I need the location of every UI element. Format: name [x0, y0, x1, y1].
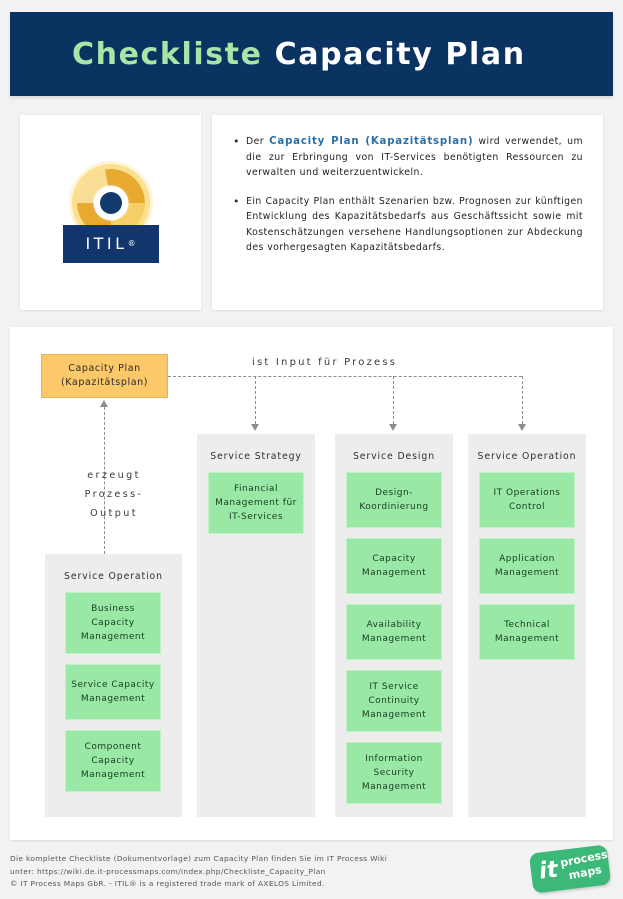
- page-title: Checkliste Capacity Plan: [72, 37, 526, 72]
- process-box[interactable]: Component Capacity Management: [65, 730, 161, 792]
- process-box[interactable]: Technical Management: [479, 604, 575, 660]
- title-white-part: Capacity Plan: [275, 37, 526, 72]
- process-box[interactable]: Financial Management für IT-Services: [208, 472, 304, 534]
- consumer-column-service-design: Service Design Design-Koordinierung Capa…: [335, 434, 453, 817]
- process-box[interactable]: Capacity Management: [346, 538, 442, 594]
- output-arrow-icon: [100, 400, 108, 407]
- output-label-line3: Output: [66, 504, 162, 523]
- itil-logo-panel: ITIL®: [20, 115, 201, 310]
- consumer-column-service-operation: Service Operation IT Operations Control …: [468, 434, 586, 817]
- output-label-line2: Prozess-: [66, 485, 162, 504]
- title-green-part: Checkliste: [72, 37, 263, 72]
- process-box[interactable]: Application Management: [479, 538, 575, 594]
- brand-it-text: it: [538, 858, 560, 884]
- input-connector-drop-operation: [522, 376, 523, 424]
- producer-column-header: Service Operation: [45, 571, 182, 582]
- process-box[interactable]: IT Service Continuity Management: [346, 670, 442, 732]
- column-header-service-strategy: Service Strategy: [197, 451, 315, 462]
- column-header-service-operation: Service Operation: [468, 451, 586, 462]
- infographic-page: Checkliste Capacity Plan ITIL® • Der Cap…: [0, 0, 623, 899]
- column-items-service-operation: IT Operations Control Application Manage…: [479, 472, 575, 670]
- description-bullet-1-text: Der Capacity Plan (Kapazitätsplan) wird …: [246, 134, 583, 181]
- input-arrow-design-icon: [389, 424, 397, 431]
- description-bullet-2: • Ein Capacity Plan enthält Szenarien bz…: [230, 194, 583, 256]
- description-bullet-1: • Der Capacity Plan (Kapazitätsplan) wir…: [230, 134, 583, 181]
- source-box-line2: (Kapazitätsplan): [61, 376, 148, 390]
- column-items-service-design: Design-Koordinierung Capacity Management…: [346, 472, 442, 814]
- description-panel: • Der Capacity Plan (Kapazitätsplan) wir…: [212, 115, 603, 310]
- input-connector-horizontal: [168, 376, 522, 377]
- input-arrow-operation-icon: [518, 424, 526, 431]
- output-relation-label: erzeugt Prozess- Output: [66, 466, 162, 523]
- process-box[interactable]: Availability Management: [346, 604, 442, 660]
- input-relation-label: ist Input für Prozess: [252, 357, 397, 368]
- bullet-1-strong: Capacity Plan (Kapazitätsplan): [269, 136, 473, 147]
- bullet-marker-icon: •: [230, 194, 246, 256]
- itil-logo-icon: ITIL®: [63, 161, 159, 265]
- column-items-service-strategy: Financial Management für IT-Services: [208, 472, 304, 544]
- itil-wordmark: ITIL®: [63, 225, 159, 263]
- process-box[interactable]: IT Operations Control: [479, 472, 575, 528]
- page-header: Checkliste Capacity Plan: [10, 12, 613, 96]
- capacity-plan-source-box: Capacity Plan (Kapazitätsplan): [41, 354, 168, 398]
- input-arrow-strategy-icon: [251, 424, 259, 431]
- itil-registered-mark: ®: [128, 239, 136, 248]
- producer-column-items: Business Capacity Management Service Cap…: [65, 592, 161, 802]
- process-box[interactable]: Design-Koordinierung: [346, 472, 442, 528]
- input-connector-drop-strategy: [255, 376, 256, 424]
- column-header-service-design: Service Design: [335, 451, 453, 462]
- source-box-line1: Capacity Plan: [68, 362, 141, 376]
- output-label-line1: erzeugt: [66, 466, 162, 485]
- footer-text-block: Die komplette Checkliste (Dokumentvorlag…: [10, 853, 520, 891]
- itil-core-icon: [100, 192, 122, 214]
- itil-wordmark-text: ITIL: [85, 234, 127, 253]
- page-footer: Die komplette Checkliste (Dokumentvorlag…: [0, 848, 623, 899]
- footer-line-2[interactable]: unter: https://wiki.de.it-processmaps.co…: [10, 866, 520, 879]
- footer-line-3: © IT Process Maps GbR. - ITIL® is a regi…: [10, 878, 520, 891]
- input-connector-drop-design: [393, 376, 394, 424]
- bullet-1-lead: Der: [246, 136, 269, 147]
- process-diagram-panel: Capacity Plan (Kapazitätsplan) ist Input…: [10, 327, 613, 840]
- footer-line-1: Die komplette Checkliste (Dokumentvorlag…: [10, 853, 520, 866]
- bullet-marker-icon: •: [230, 134, 246, 181]
- process-box[interactable]: Service Capacity Management: [65, 664, 161, 720]
- consumer-column-service-strategy: Service Strategy Financial Management fü…: [197, 434, 315, 817]
- process-box[interactable]: Business Capacity Management: [65, 592, 161, 654]
- producer-column-service-operation: Service Operation Business Capacity Mana…: [45, 554, 182, 817]
- description-bullet-2-text: Ein Capacity Plan enthält Szenarien bzw.…: [246, 194, 583, 256]
- process-box[interactable]: Information Security Management: [346, 742, 442, 804]
